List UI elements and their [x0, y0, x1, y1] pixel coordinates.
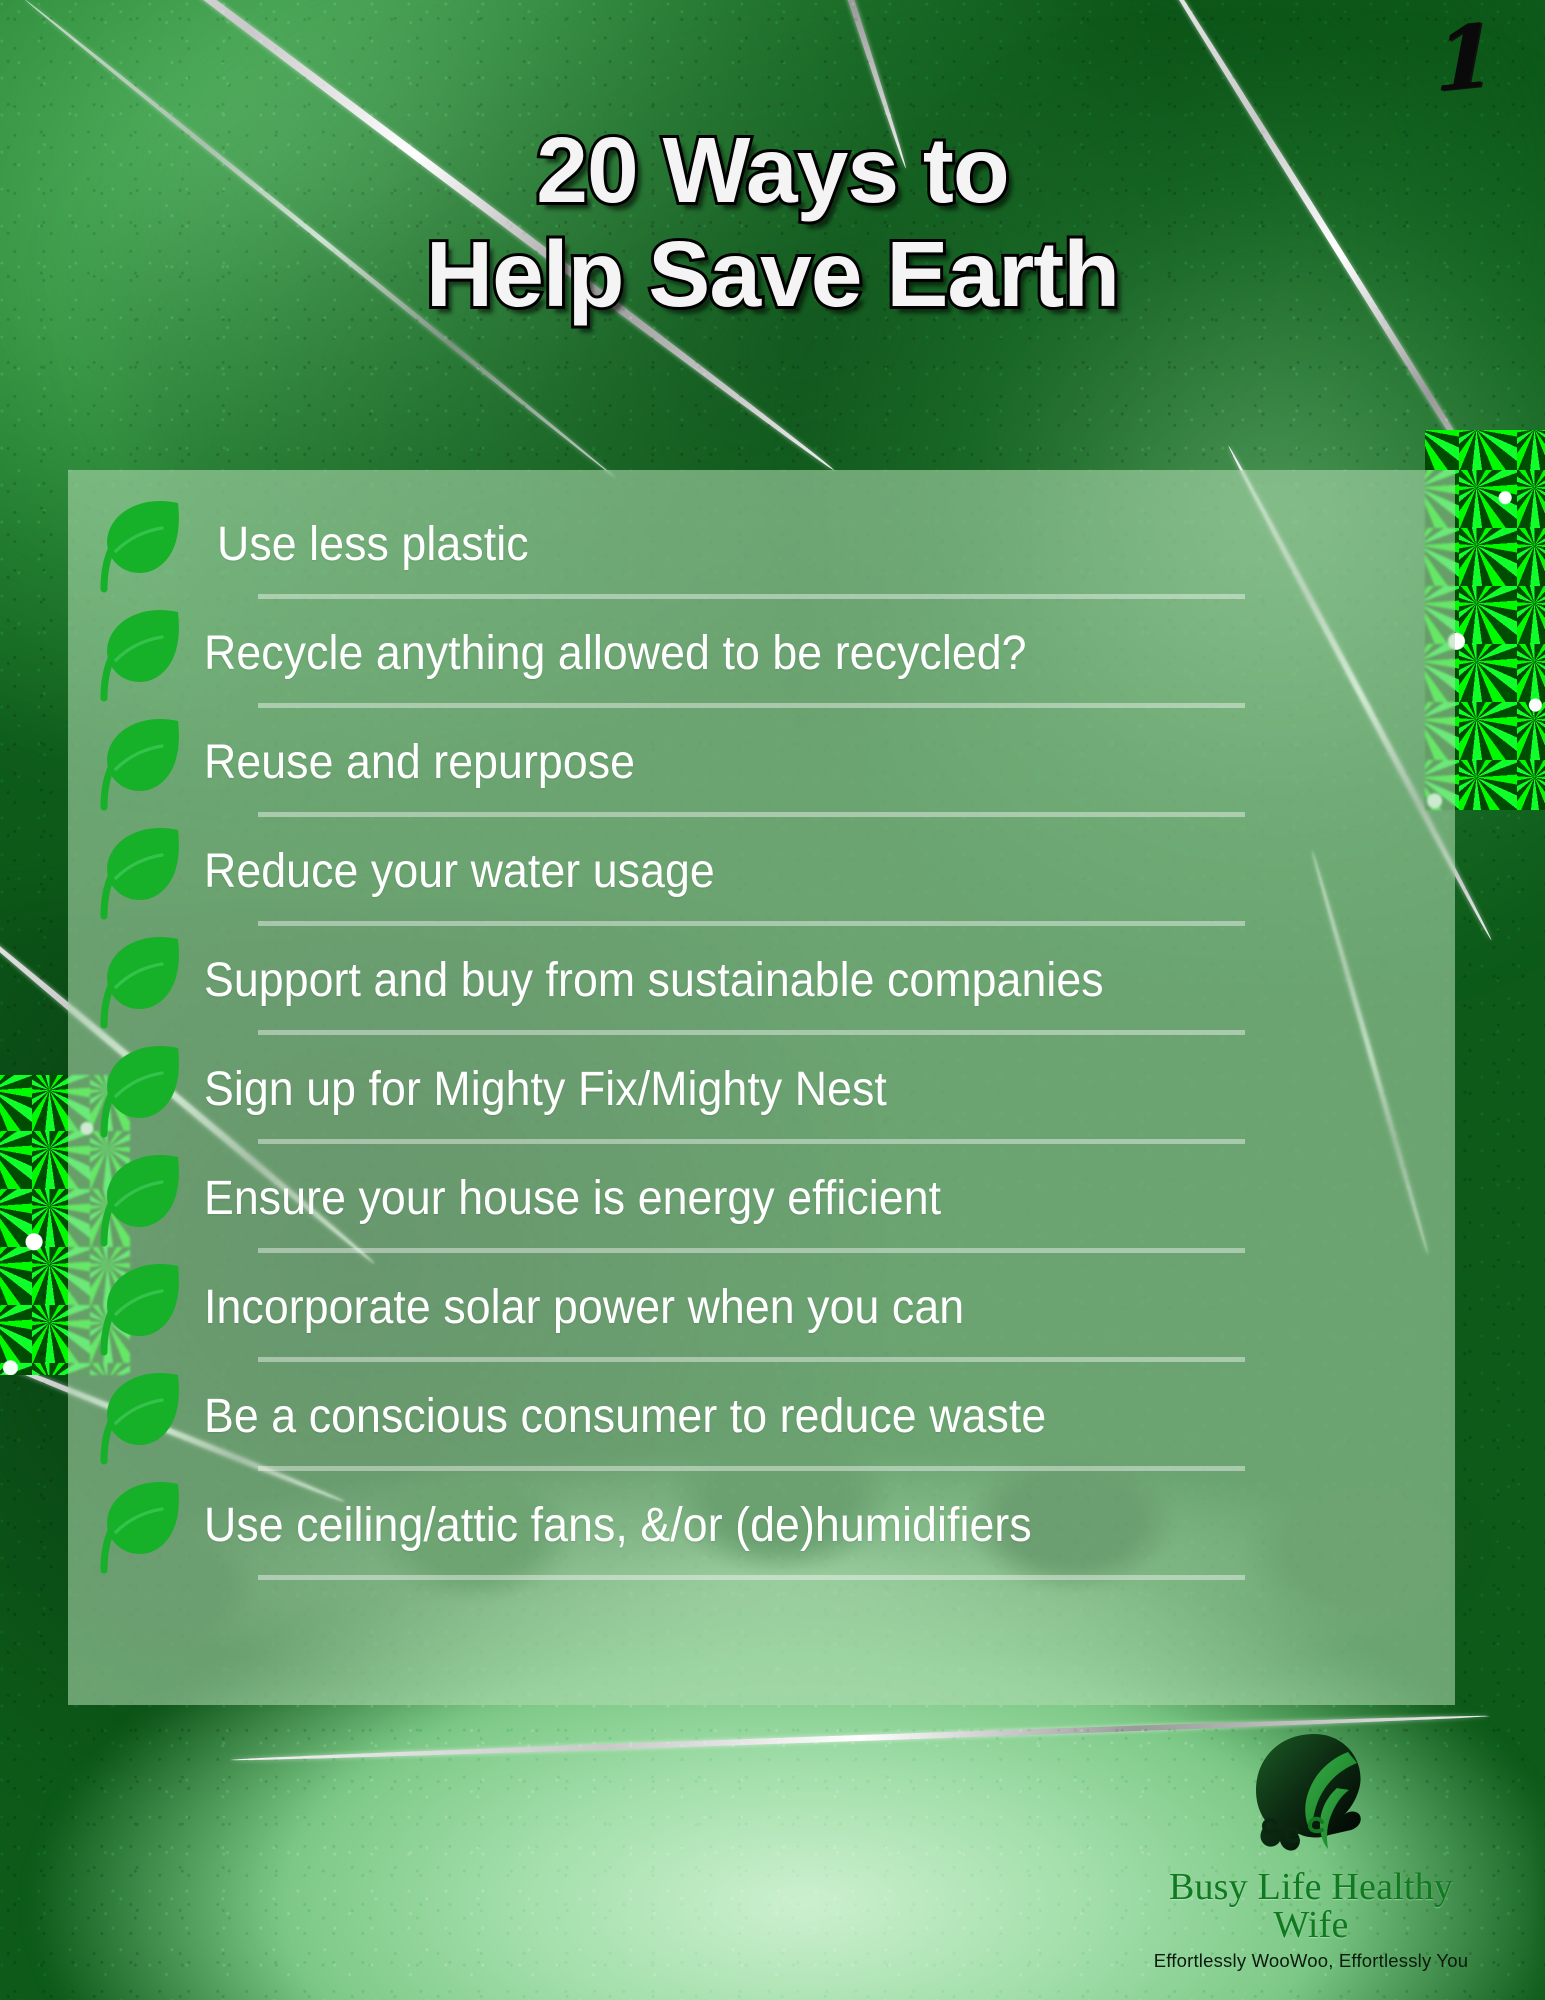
list-item-label: Sign up for Mighty Fix/Mighty Nest [204, 1062, 887, 1117]
list-item: Reuse and repurpose [86, 708, 1427, 817]
list-item-label: Incorporate solar power when you can [204, 1280, 964, 1335]
list-item: Recycle anything allowed to be recycled? [86, 599, 1427, 708]
brand-logo: Busy Life Healthy Wife Effortlessly WooW… [1137, 1730, 1485, 1973]
list-item: Sign up for Mighty Fix/Mighty Nest [86, 1035, 1427, 1144]
list-item-label: Be a conscious consumer to reduce waste [204, 1389, 1046, 1444]
leaf-icon [90, 711, 194, 815]
leaf-icon [90, 929, 194, 1033]
list-item-label: Use ceiling/attic fans, &/or (de)humidif… [204, 1498, 1032, 1553]
list-item: Ensure your house is energy efficient [86, 1144, 1427, 1253]
poster-page: 1 20 Ways to Help Save Earth Use less pl… [0, 0, 1545, 2000]
leaf-icon [90, 602, 194, 706]
tips-list: Use less plastic Recycle anything allowe… [68, 490, 1455, 1580]
brand-tagline: Effortlessly WooWoo, Effortlessly You [1137, 1950, 1485, 1972]
list-item-label: Reduce your water usage [204, 844, 715, 899]
list-item-label: Reuse and repurpose [204, 735, 635, 790]
leaf-icon [90, 1256, 194, 1360]
list-item: Incorporate solar power when you can [86, 1253, 1427, 1362]
woman-profile-leaf-hair-icon [1236, 1730, 1386, 1866]
page-title: 20 Ways to Help Save Earth [0, 118, 1545, 326]
list-item-label: Support and buy from sustainable compani… [204, 953, 1104, 1008]
list-item: Use ceiling/attic fans, &/or (de)humidif… [86, 1471, 1427, 1580]
leaf-icon [90, 1474, 194, 1578]
leaf-icon [90, 1365, 194, 1469]
list-item-divider [258, 1575, 1245, 1580]
list-item: Use less plastic [86, 490, 1427, 599]
leaf-icon [90, 493, 194, 597]
page-number: 1 [1435, 5, 1493, 113]
leaf-icon [90, 1147, 194, 1251]
list-item-label: Ensure your house is energy efficient [204, 1171, 941, 1226]
tips-panel: Use less plastic Recycle anything allowe… [68, 470, 1455, 1705]
page-title-line-2: Help Save Earth [0, 222, 1545, 326]
list-item: Reduce your water usage [86, 817, 1427, 926]
list-item-label: Recycle anything allowed to be recycled? [204, 626, 1027, 681]
list-item: Be a conscious consumer to reduce waste [86, 1362, 1427, 1471]
list-item: Support and buy from sustainable compani… [86, 926, 1427, 1035]
leaf-icon [90, 1038, 194, 1142]
brand-name: Busy Life Healthy Wife [1137, 1868, 1485, 1946]
page-title-line-1: 20 Ways to [0, 118, 1545, 222]
list-item-label: Use less plastic [204, 517, 529, 572]
leaf-icon [90, 820, 194, 924]
